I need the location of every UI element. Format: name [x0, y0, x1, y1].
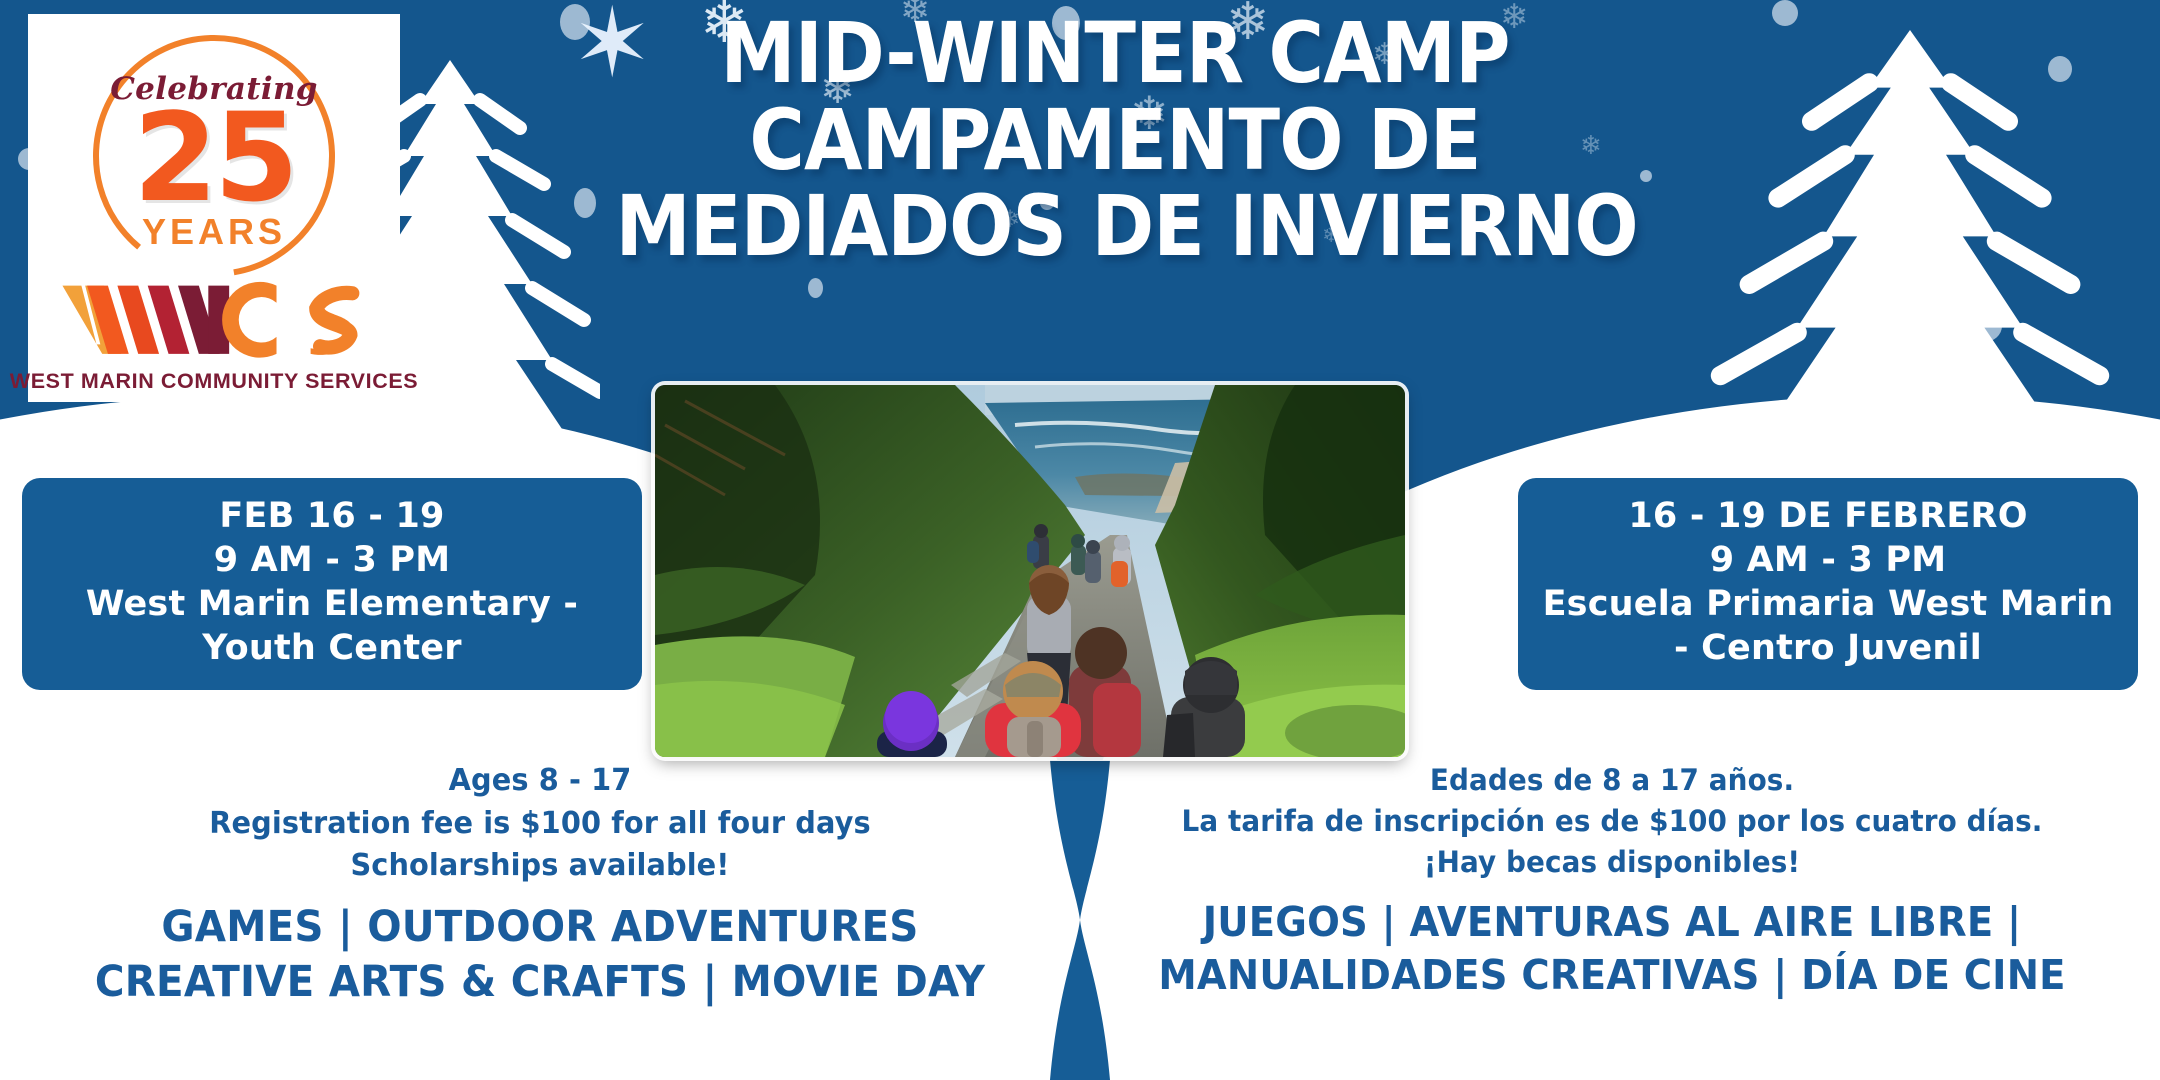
anniversary-number: 25 — [133, 101, 295, 217]
info-right-line-3: Escuela Primaria West Marin — [1536, 582, 2120, 626]
title-line-spanish-2: MEDIADOS DE INVIERNO — [616, 183, 1615, 270]
ages-text-spanish: Edades de 8 a 17 años. — [1103, 760, 2121, 801]
info-right-line-2: 9 AM - 3 PM — [1536, 538, 2120, 582]
snow-dot — [1772, 0, 1798, 26]
years-label: YEARS — [142, 211, 286, 253]
title-line-english: MID-WINTER CAMP — [616, 10, 1615, 97]
activities-english-line-1: GAMES | OUTDOOR ADVENTURES — [70, 902, 1010, 954]
fee-text-english: Registration fee is $100 for all four da… — [60, 803, 1020, 846]
wmcs-tagline: WEST MARIN COMMUNITY SERVICES — [10, 369, 418, 394]
activities-english-line-2: CREATIVE ARTS & CRAFTS | MOVIE DAY — [70, 957, 1010, 1009]
info-left-line-2: 9 AM - 3 PM — [40, 538, 624, 582]
scholarships-text-spanish: ¡Hay becas disponibles! — [1103, 842, 2121, 883]
activities-spanish-line-1: JUEGOS | AVENTURAS AL AIRE LIBRE | — [1114, 898, 2110, 947]
anniversary-badge: Celebrating 25 YEARS — [69, 30, 359, 284]
page-title: MID-WINTER CAMP CAMPAMENTO DE MEDIADOS D… — [560, 10, 1670, 270]
info-right-line-1: 16 - 19 DE FEBRERO — [1536, 494, 2120, 538]
wmcs-logo-card: Celebrating 25 YEARS WEST MARIN COMMUNIT… — [28, 14, 400, 402]
snow-dot — [808, 278, 823, 298]
info-left-line-1: FEB 16 - 19 — [40, 494, 624, 538]
title-line-spanish-1: CAMPAMENTO DE — [616, 97, 1615, 184]
camp-hiking-photo — [655, 385, 1405, 757]
flyer-canvas: ❄ ❄ ❄ ❄ ❄ ❄ ❄ ❄ ❄ ❄ ❄ ✶ — [0, 0, 2160, 1080]
info-box-english: FEB 16 - 19 9 AM - 3 PM West Marin Eleme… — [22, 478, 642, 690]
info-right-line-4: - Centro Juvenil — [1536, 626, 2120, 670]
info-box-spanish: 16 - 19 DE FEBRERO 9 AM - 3 PM Escuela P… — [1518, 478, 2138, 690]
fee-text-spanish: La tarifa de inscripción es de $100 por … — [1103, 801, 2121, 842]
info-left-line-4: Youth Center — [40, 626, 624, 670]
details-english: Ages 8 - 17 Registration fee is $100 for… — [40, 760, 1040, 1009]
scholarships-text-english: Scholarships available! — [60, 845, 1020, 888]
details-spanish: Edades de 8 a 17 años. La tarifa de insc… — [1082, 760, 2142, 1000]
activities-spanish-line-2: MANUALIDADES CREATIVAS | DÍA DE CINE — [1114, 951, 2110, 1000]
info-left-line-3: West Marin Elementary - — [40, 582, 624, 626]
ages-text-english: Ages 8 - 17 — [60, 760, 1020, 803]
